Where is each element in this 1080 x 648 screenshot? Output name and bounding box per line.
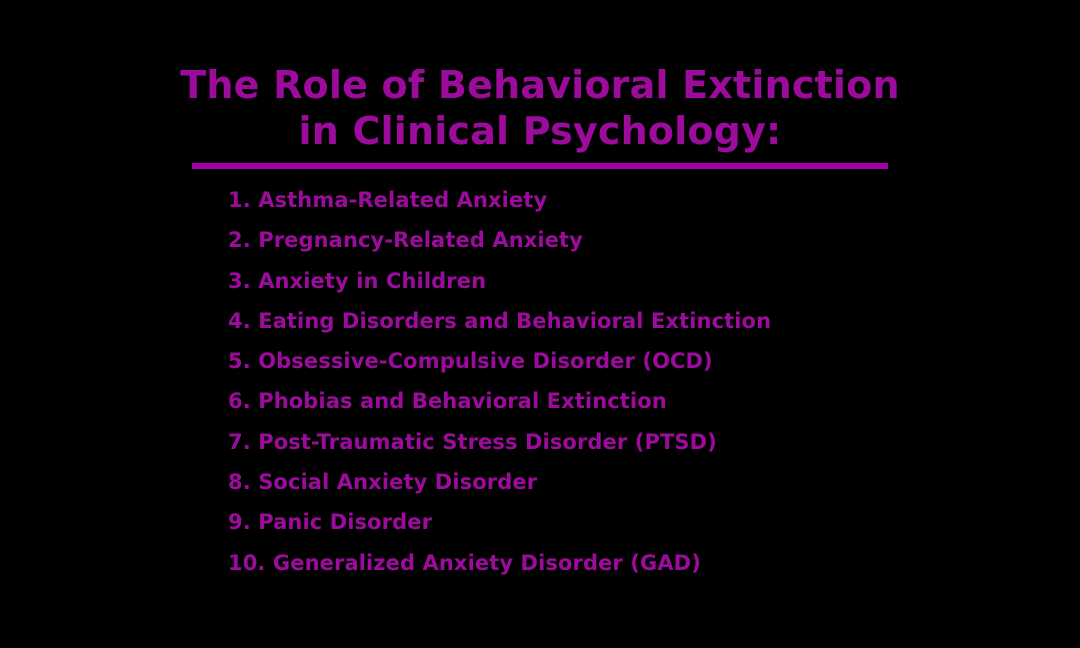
list-item: 3. Anxiety in Children — [228, 261, 1048, 301]
list-item: 1. Asthma-Related Anxiety — [228, 180, 1048, 220]
list-item: 2. Pregnancy-Related Anxiety — [228, 220, 1048, 260]
list-item: 4. Eating Disorders and Behavioral Extin… — [228, 301, 1048, 341]
numbered-topic-list: 1. Asthma-Related Anxiety 2. Pregnancy-R… — [228, 180, 1048, 583]
list-item: 7. Post-Traumatic Stress Disorder (PTSD) — [228, 422, 1048, 462]
presentation-slide: The Role of Behavioral Extinction in Cli… — [0, 0, 1080, 648]
list-item: 10. Generalized Anxiety Disorder (GAD) — [228, 543, 1048, 583]
title-divider-rule — [192, 163, 888, 169]
list-item: 9. Panic Disorder — [228, 502, 1048, 542]
slide-title: The Role of Behavioral Extinction in Cli… — [150, 62, 930, 154]
list-item: 8. Social Anxiety Disorder — [228, 462, 1048, 502]
list-item: 6. Phobias and Behavioral Extinction — [228, 381, 1048, 421]
slide-title-line-1: The Role of Behavioral Extinction — [150, 62, 930, 108]
list-item: 5. Obsessive-Compulsive Disorder (OCD) — [228, 341, 1048, 381]
slide-title-line-2: in Clinical Psychology: — [150, 108, 930, 154]
